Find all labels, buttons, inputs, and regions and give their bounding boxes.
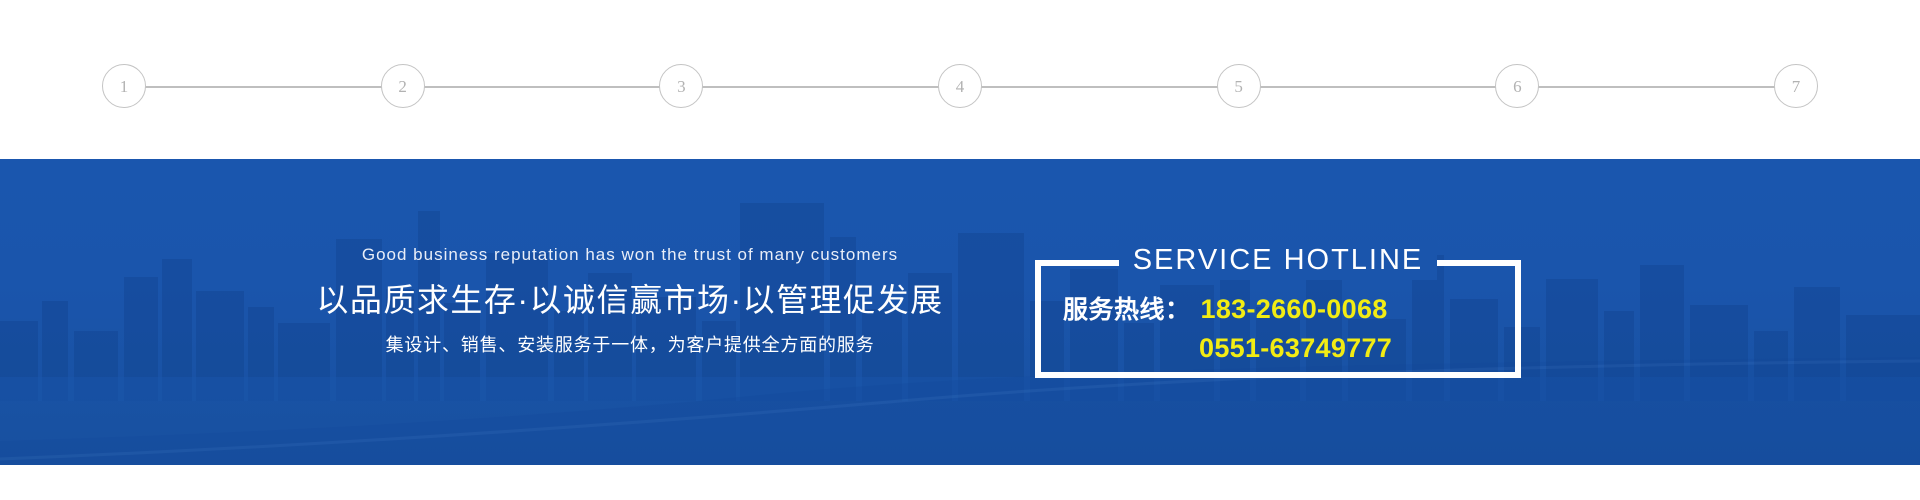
stepper-step-label: 4 bbox=[956, 78, 965, 95]
stepper-step-6[interactable]: 6 bbox=[1495, 64, 1539, 108]
stepper-connector-line bbox=[960, 86, 1239, 88]
stepper-track: 1234567 bbox=[124, 86, 1796, 87]
stepper-step-1[interactable]: 1 bbox=[102, 64, 146, 108]
stepper-step-label: 6 bbox=[1513, 78, 1522, 95]
slogan-english-line: Good business reputation has won the tru… bbox=[300, 244, 960, 266]
hotline-phone-secondary[interactable]: 0551-63749777 bbox=[1199, 329, 1392, 367]
stepper-step-4[interactable]: 4 bbox=[938, 64, 982, 108]
stepper-connector-line bbox=[124, 86, 403, 88]
stepper-connector-line bbox=[681, 86, 960, 88]
stepper-step-label: 3 bbox=[677, 78, 686, 95]
stepper-connector-line bbox=[1517, 86, 1796, 88]
slogan-chinese-headline: 以品质求生存·以诚信赢市场·以管理促发展 bbox=[300, 280, 960, 320]
hotline-body: 服务热线： 183-2660-0068 0551-63749777 bbox=[1035, 290, 1521, 367]
stepper-step-label: 5 bbox=[1234, 78, 1243, 95]
stepper-connector-line bbox=[403, 86, 682, 88]
stepper-step-3[interactable]: 3 bbox=[659, 64, 703, 108]
promo-banner: Good business reputation has won the tru… bbox=[0, 159, 1920, 465]
stepper-step-label: 1 bbox=[120, 78, 129, 95]
page-root: 1234567 bbox=[0, 0, 1920, 500]
stepper-step-label: 2 bbox=[398, 78, 407, 95]
hotline-row-secondary: 0551-63749777 bbox=[1063, 329, 1503, 367]
hotline-row-primary: 服务热线： 183-2660-0068 bbox=[1063, 290, 1503, 329]
stepper-step-5[interactable]: 5 bbox=[1217, 64, 1261, 108]
hotline-phone-primary[interactable]: 183-2660-0068 bbox=[1201, 290, 1388, 328]
stepper-connector-line bbox=[1239, 86, 1518, 88]
service-hotline-box: SERVICE HOTLINE 服务热线： 183-2660-0068 0551… bbox=[1035, 260, 1521, 378]
hotline-label: 服务热线： bbox=[1063, 291, 1191, 329]
slogan-chinese-subline: 集设计、销售、安装服务于一体，为客户提供全方面的服务 bbox=[300, 334, 960, 357]
slogan-block: Good business reputation has won the tru… bbox=[300, 244, 960, 357]
stepper-step-7[interactable]: 7 bbox=[1774, 64, 1818, 108]
step-progress-bar: 1234567 bbox=[0, 0, 1920, 159]
stepper-step-label: 7 bbox=[1792, 78, 1801, 95]
stepper-step-2[interactable]: 2 bbox=[381, 64, 425, 108]
